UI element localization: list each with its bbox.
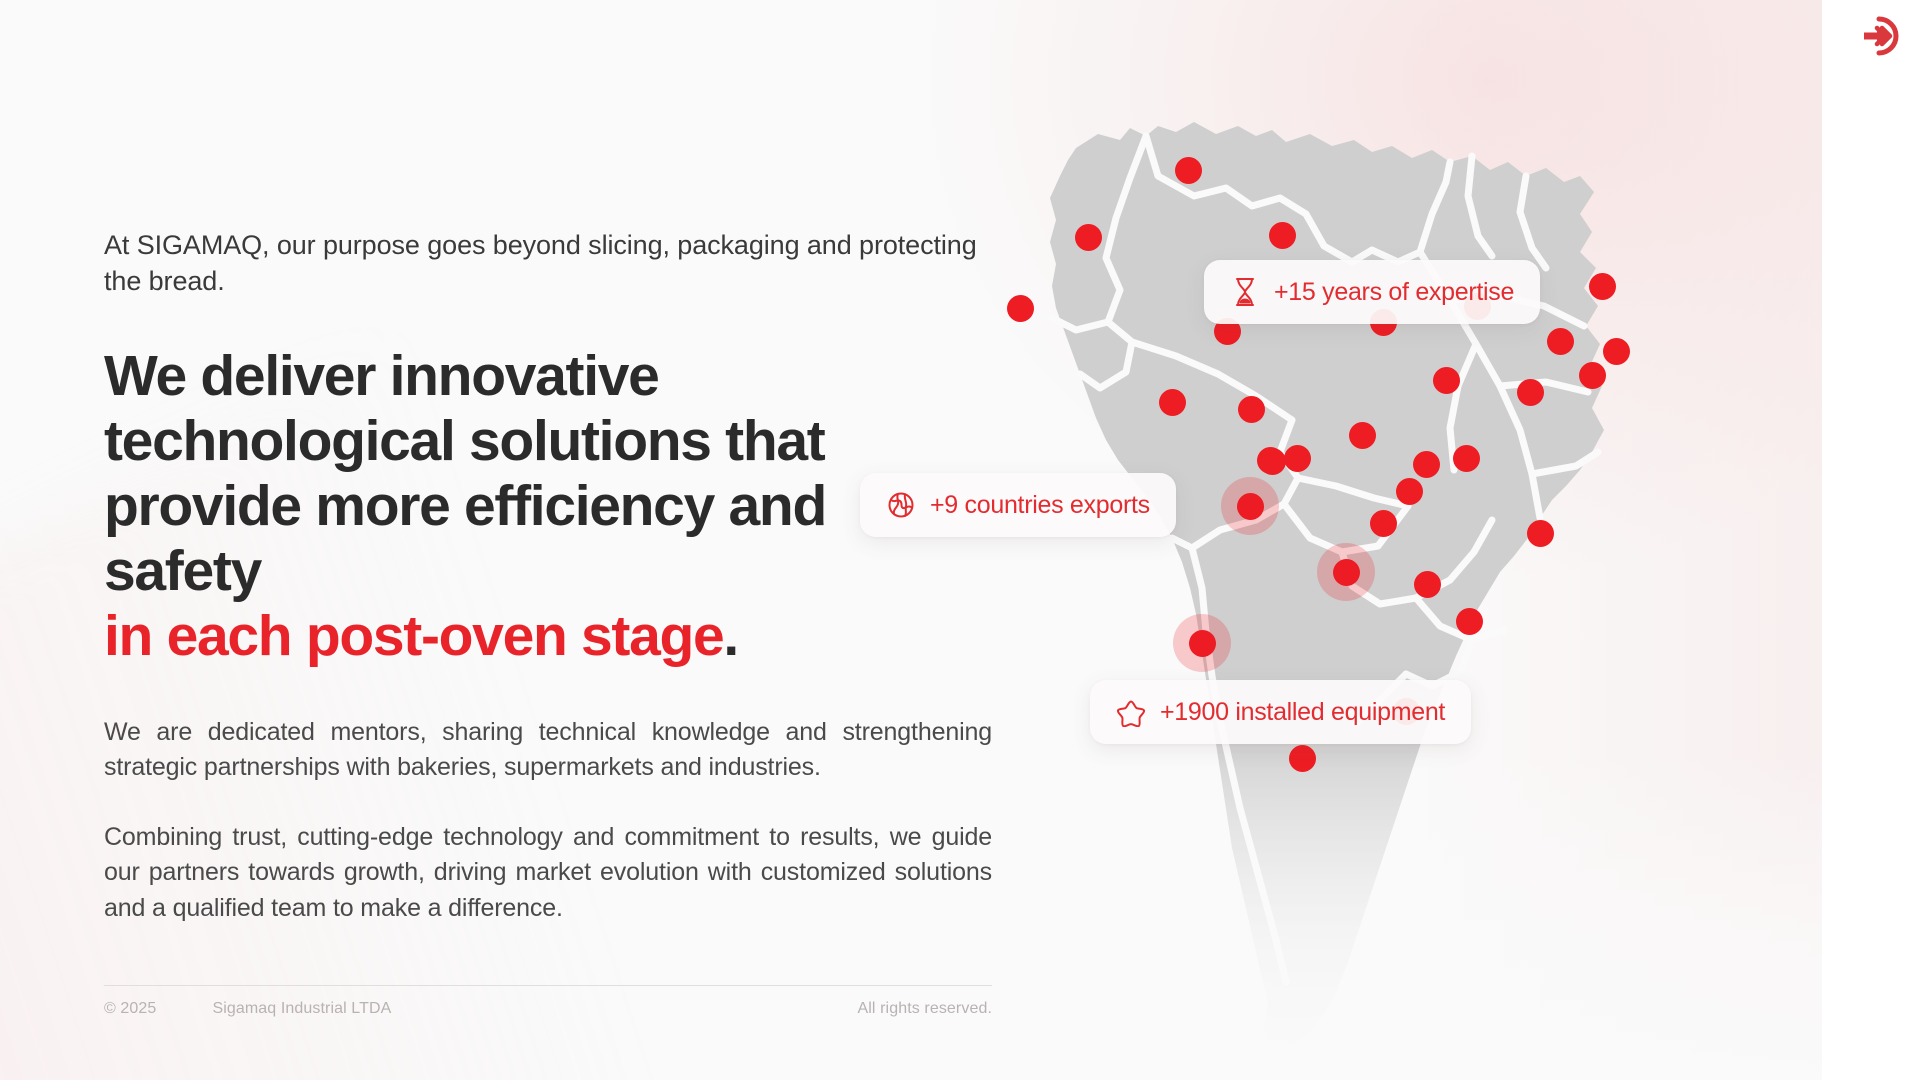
body-paragraph-1: We are dedicated mentors, sharing techni… xyxy=(104,715,992,786)
kicker-text: At SIGAMAQ, our purpose goes beyond slic… xyxy=(104,228,992,300)
map-pin[interactable] xyxy=(1284,445,1311,472)
stat-chip-expertise[interactable]: +15 years of expertise xyxy=(1204,260,1540,324)
map-pin[interactable] xyxy=(1453,445,1480,472)
map-pin[interactable] xyxy=(1175,157,1202,184)
headline-accent: in each post-oven stage xyxy=(104,604,723,668)
slide-canvas: +15 years of expertise +9 countries expo… xyxy=(0,0,1822,1080)
map-pin[interactable] xyxy=(1517,379,1544,406)
text-column: At SIGAMAQ, our purpose goes beyond slic… xyxy=(104,228,992,926)
stat-chip-equipment[interactable]: +1900 installed equipment xyxy=(1090,680,1471,744)
footer-copyright: © 2025 xyxy=(104,1000,156,1018)
next-slide-button[interactable] xyxy=(1857,16,1901,60)
map-pin[interactable] xyxy=(1527,520,1554,547)
map-svg xyxy=(980,0,1822,1080)
map-pin[interactable] xyxy=(1413,451,1440,478)
map-pin[interactable] xyxy=(1349,422,1376,449)
map-pin[interactable] xyxy=(1547,328,1574,355)
map-pin[interactable] xyxy=(1238,396,1265,423)
map-pin[interactable] xyxy=(1396,478,1423,505)
footer-divider xyxy=(104,985,992,986)
map-pin[interactable] xyxy=(1603,338,1630,365)
stat-chip-label: +9 countries exports xyxy=(930,491,1150,520)
map-pin[interactable] xyxy=(1579,362,1606,389)
map-pin[interactable] xyxy=(1189,630,1216,657)
map-pin[interactable] xyxy=(1007,295,1034,322)
star-icon xyxy=(1116,697,1146,727)
headline-line-3: provide more efficiency and safety xyxy=(104,474,826,603)
map-pin[interactable] xyxy=(1370,510,1397,537)
headline-line-2: technological solutions that xyxy=(104,409,824,473)
map-pin[interactable] xyxy=(1433,367,1460,394)
map-pin[interactable] xyxy=(1075,224,1102,251)
map-pin[interactable] xyxy=(1159,389,1186,416)
presentation-stage: +15 years of expertise +9 countries expo… xyxy=(0,0,1920,1080)
map-pin[interactable] xyxy=(1257,447,1284,474)
body-paragraph-2: Combining trust, cutting-edge technology… xyxy=(104,820,992,927)
headline-line-1: We deliver innovative xyxy=(104,344,659,408)
map-pin[interactable] xyxy=(1333,559,1360,586)
globe-icon xyxy=(886,490,916,520)
map-pin[interactable] xyxy=(1269,222,1296,249)
footer-rights: All rights reserved. xyxy=(858,1000,993,1018)
page-title: We deliver innovativetechnological solut… xyxy=(104,344,992,669)
hourglass-icon xyxy=(1230,277,1260,307)
footer: © 2025 Sigamaq Industrial LTDA All right… xyxy=(104,1000,992,1018)
footer-company: Sigamaq Industrial LTDA xyxy=(212,1000,391,1018)
arrow-right-circle-icon xyxy=(1858,15,1900,62)
map-pin[interactable] xyxy=(1289,745,1316,772)
stat-chip-exports[interactable]: +9 countries exports xyxy=(860,473,1176,537)
stat-chip-label: +15 years of expertise xyxy=(1274,278,1514,307)
south-america-map xyxy=(980,0,1822,1080)
map-pin[interactable] xyxy=(1237,493,1264,520)
headline-period: . xyxy=(723,604,738,668)
map-pin[interactable] xyxy=(1589,273,1616,300)
map-pin[interactable] xyxy=(1414,571,1441,598)
map-pin[interactable] xyxy=(1456,608,1483,635)
stat-chip-label: +1900 installed equipment xyxy=(1160,698,1445,727)
